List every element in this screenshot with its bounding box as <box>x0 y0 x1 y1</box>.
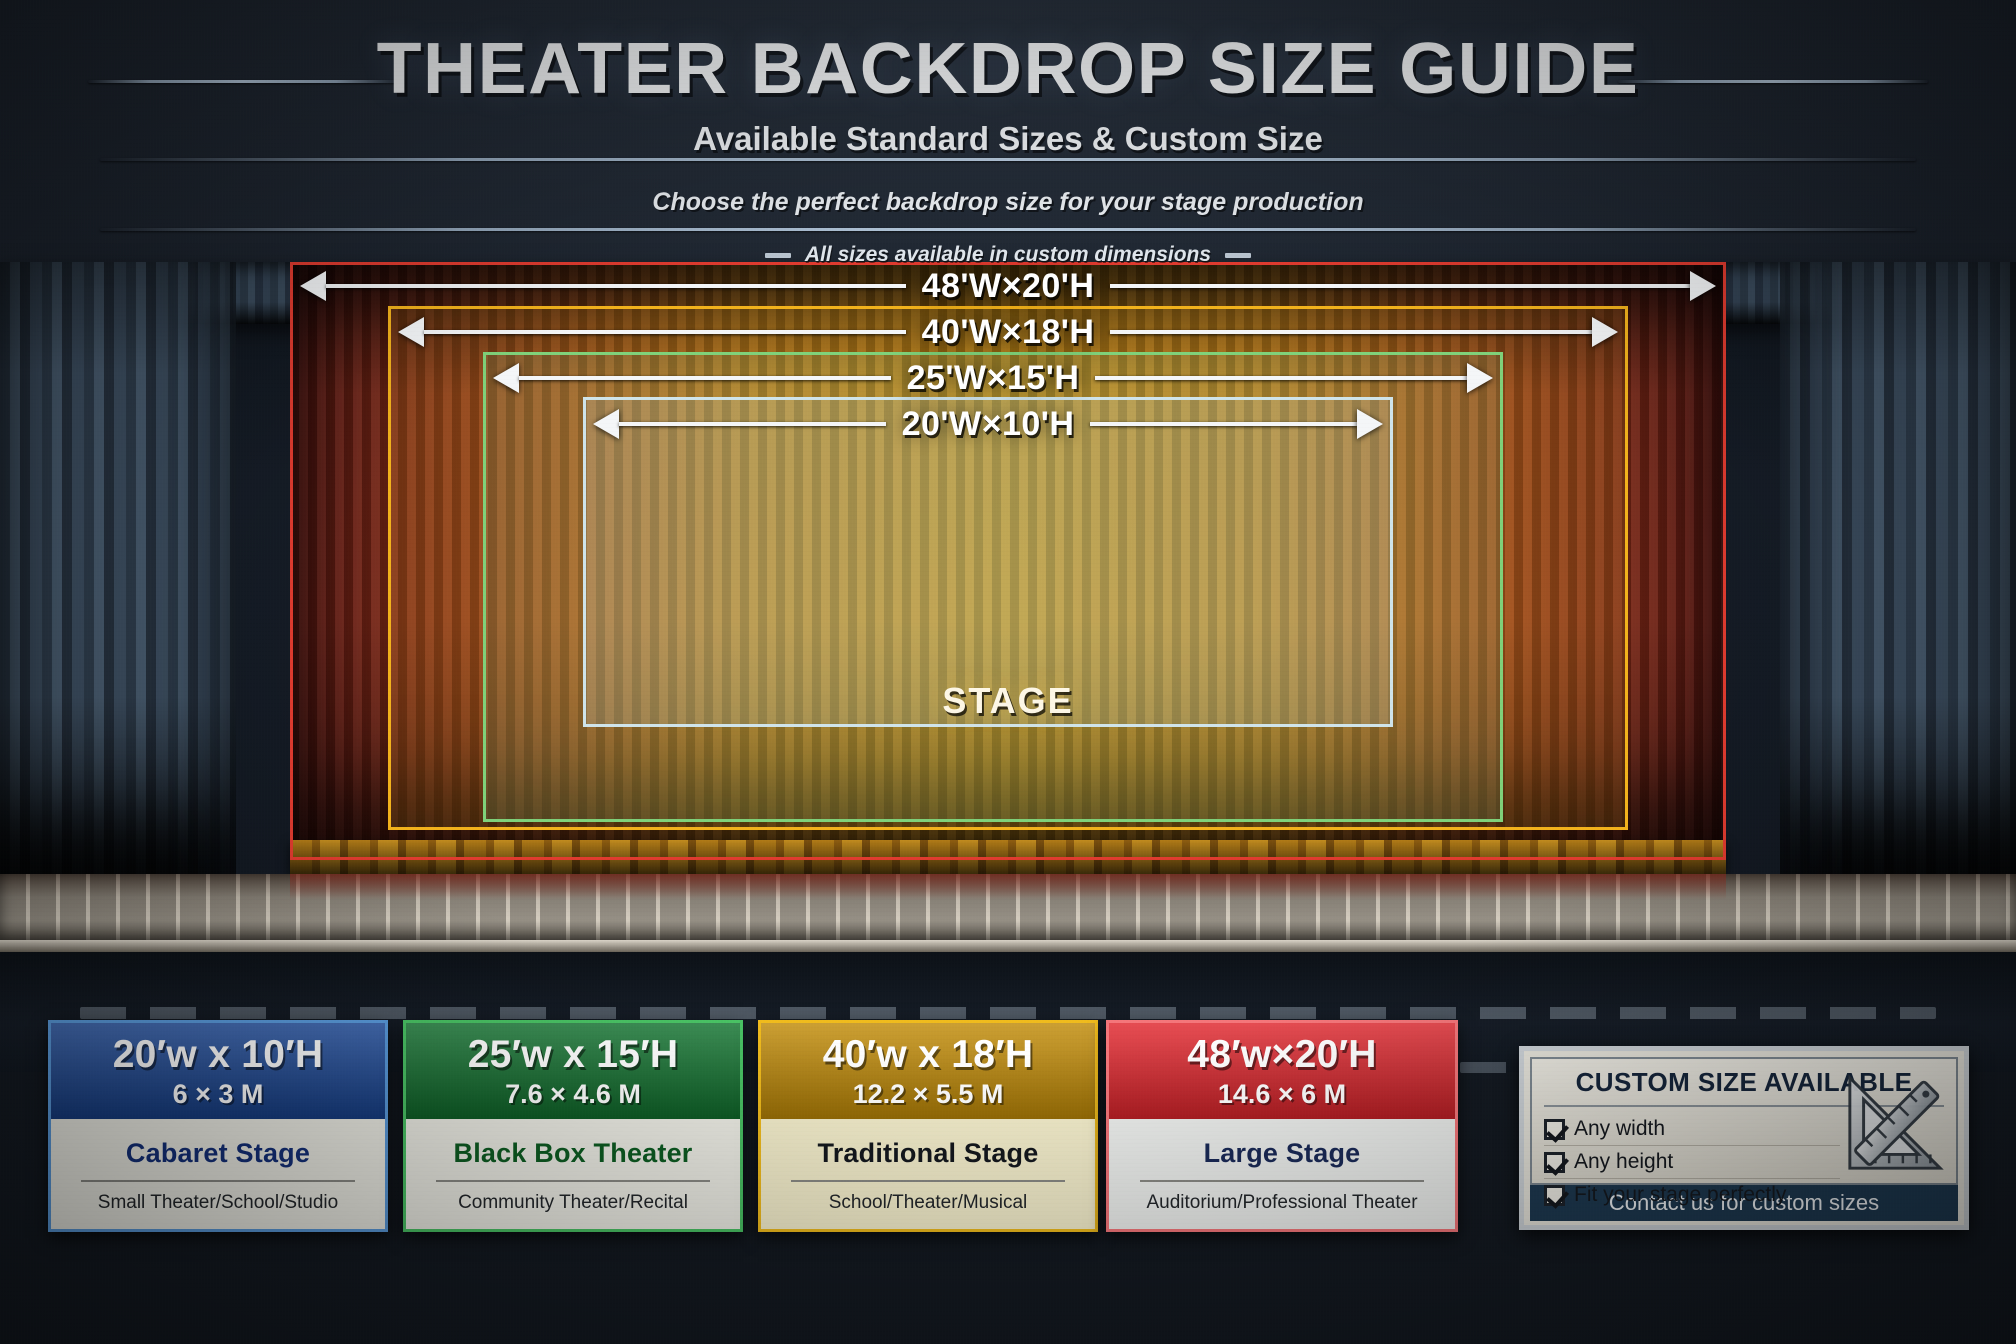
stage-apron-edge <box>0 940 2016 952</box>
card-body: Large Stage Auditorium/Professional Thea… <box>1109 1119 1455 1232</box>
card-body: Traditional Stage School/Theater/Musical <box>761 1119 1095 1232</box>
arrow-line-right <box>1110 330 1592 334</box>
dimension-label: 25'W×15'H <box>891 359 1096 398</box>
card-size-feet: 25′w x 15′H <box>468 1033 679 1077</box>
card-header: 25′w x 15′H 7.6 × 4.6 M <box>406 1023 740 1119</box>
arrow-head-right-icon <box>1592 317 1618 347</box>
footlight-strip <box>80 1007 1936 1019</box>
stage-curtain-right <box>1780 262 2016 882</box>
checkbox-checked-icon <box>1544 1152 1565 1173</box>
card-separator <box>1140 1180 1424 1182</box>
stage-label: STAGE <box>0 680 2016 722</box>
arrow-head-left-icon <box>398 317 424 347</box>
dimension-label: 40'W×18'H <box>906 313 1111 352</box>
card-size-meters: 7.6 × 4.6 M <box>505 1079 641 1110</box>
checkbox-checked-icon <box>1544 1185 1565 1206</box>
size-card-black-box[interactable]: 25′w x 15′H 7.6 × 4.6 M Black Box Theate… <box>403 1020 743 1232</box>
card-use-case: Auditorium/Professional Theater <box>1146 1192 1417 1214</box>
stage-apron-floor <box>0 874 2016 940</box>
arrow-line-left <box>519 376 891 380</box>
card-size-meters: 6 × 3 M <box>173 1079 264 1110</box>
custom-panel-feature-list: Any width Any height Fit your stage perf… <box>1544 1113 1944 1211</box>
card-use-case: School/Theater/Musical <box>829 1192 1028 1214</box>
custom-dimensions-note: All sizes available in custom dimensions <box>0 243 2016 267</box>
dimension-row-40x18: 40'W×18'H <box>398 309 1618 355</box>
arrow-head-left-icon <box>493 363 519 393</box>
card-separator <box>81 1180 354 1182</box>
card-use-case: Community Theater/Recital <box>458 1192 688 1214</box>
dimension-row-25x15: 25'W×15'H <box>493 355 1493 401</box>
size-card-large[interactable]: 48′w×20′H 14.6 × 6 M Large Stage Auditor… <box>1106 1020 1458 1232</box>
apron-warm-glow <box>290 874 1726 900</box>
custom-feature-fit-stage: Fit your stage perfectly <box>1544 1179 1944 1211</box>
card-stage-type: Cabaret Stage <box>126 1138 310 1169</box>
custom-feature-any-height: Any height <box>1544 1146 1944 1178</box>
dimension-row-20x10: 20'W×10'H <box>593 401 1383 447</box>
card-stage-type: Black Box Theater <box>454 1138 693 1169</box>
card-separator <box>791 1180 1064 1182</box>
card-size-meters: 12.2 × 5.5 M <box>853 1079 1004 1110</box>
card-header: 48′w×20′H 14.6 × 6 M <box>1109 1023 1455 1119</box>
arrow-line-left <box>619 422 886 426</box>
arrow-line-right <box>1090 422 1357 426</box>
card-separator <box>436 1180 709 1182</box>
custom-note-text: All sizes available in custom dimensions <box>805 243 1211 266</box>
page-tagline: Choose the perfect backdrop size for you… <box>0 188 2016 217</box>
card-body: Black Box Theater Community Theater/Reci… <box>406 1119 740 1232</box>
arrow-line-right <box>1095 376 1467 380</box>
page-title: THEATER BACKDROP SIZE GUIDE <box>0 28 2016 110</box>
dimension-label: 20'W×10'H <box>886 405 1091 444</box>
card-size-feet: 40′w x 18′H <box>823 1033 1034 1077</box>
dash-right-icon <box>1225 253 1251 258</box>
card-size-meters: 14.6 × 6 M <box>1218 1079 1346 1110</box>
stage-illustration: 48'W×20'H 40'W×18'H 25'W×15'H 20'W×10'H <box>0 262 2016 982</box>
arrow-head-right-icon <box>1357 409 1383 439</box>
card-stage-type: Large Stage <box>1204 1138 1361 1169</box>
dash-left-icon <box>765 253 791 258</box>
card-size-feet: 48′w×20′H <box>1187 1033 1376 1077</box>
size-card-traditional[interactable]: 40′w x 18′H 12.2 × 5.5 M Traditional Sta… <box>758 1020 1098 1232</box>
custom-feature-label: Any height <box>1574 1150 1673 1174</box>
arrow-head-left-icon <box>593 409 619 439</box>
card-header: 20′w x 10′H 6 × 3 M <box>51 1023 385 1119</box>
card-body: Cabaret Stage Small Theater/School/Studi… <box>51 1119 385 1232</box>
page-subtitle: Available Standard Sizes & Custom Size <box>0 120 2016 158</box>
arrow-line-left <box>424 330 906 334</box>
header-rule-lower <box>100 228 1916 231</box>
custom-feature-any-width: Any width <box>1544 1113 1944 1145</box>
checkbox-checked-icon <box>1544 1119 1565 1140</box>
card-use-case: Small Theater/School/Studio <box>98 1192 338 1214</box>
custom-feature-label: Any width <box>1574 1117 1665 1141</box>
custom-feature-label: Fit your stage perfectly <box>1574 1183 1786 1207</box>
card-stage-type: Traditional Stage <box>818 1138 1039 1169</box>
header-rule-mid <box>100 158 1916 161</box>
card-size-feet: 20′w x 10′H <box>113 1033 324 1077</box>
card-header: 40′w x 18′H 12.2 × 5.5 M <box>761 1023 1095 1119</box>
custom-panel-inner: CUSTOM SIZE AVAILABLE Any width Any heig… <box>1530 1057 1958 1185</box>
arrow-head-right-icon <box>1467 363 1493 393</box>
custom-size-panel[interactable]: CUSTOM SIZE AVAILABLE Any width Any heig… <box>1519 1046 1969 1230</box>
stage-curtain-left <box>0 262 236 882</box>
size-card-cabaret[interactable]: 20′w x 10′H 6 × 3 M Cabaret Stage Small … <box>48 1020 388 1232</box>
